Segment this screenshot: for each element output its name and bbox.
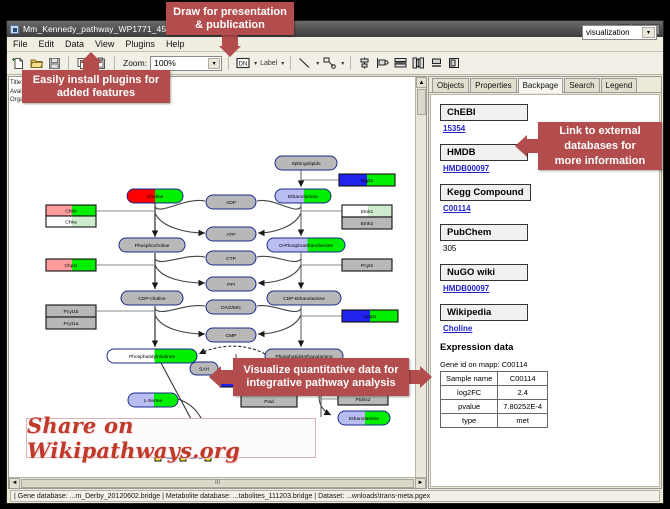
node-label: CMP [226, 333, 237, 339]
callout-visualize-stem-right [407, 370, 421, 384]
metabolite-node-sphingolipids[interactable]: Sphingolipids [275, 156, 337, 170]
callout-plugins-arrow-up-icon [80, 52, 102, 63]
db-link-wikipedia[interactable]: Choline [443, 324, 659, 333]
node-label: SAH [199, 366, 210, 372]
callout-links-line3: more information [555, 154, 645, 169]
bring-front-icon[interactable] [447, 56, 462, 71]
metabolite-node-ethanolamine-top[interactable]: Ethanolamine [275, 189, 331, 203]
callout-links-line1: Link to external [559, 124, 640, 139]
svg-text:DN: DN [238, 62, 247, 68]
callout-share-on-wikipathways: Share on Wikipathways.org [26, 418, 316, 458]
node-label: Phosphatidylcholines [129, 354, 176, 360]
node-label: ADP [226, 200, 236, 206]
callout-plugins-line2: added features [57, 87, 135, 100]
gene-node-chka[interactable]: Chka [46, 216, 96, 227]
tab-legend[interactable]: Legend [601, 78, 638, 92]
callout-links-line2: databases for [564, 139, 636, 154]
menu-plugins[interactable]: Plugins [124, 39, 156, 49]
visualization-chevron-down-icon[interactable]: ▾ [642, 27, 655, 38]
callout-draw-line1: Draw for presentation [173, 6, 287, 19]
menu-data[interactable]: Data [64, 39, 85, 49]
app-icon [10, 25, 19, 34]
callout-links-arrow-left-icon [515, 135, 527, 157]
metabolite-node-cdp-ethanolamine[interactable]: CDP-Ethanolamine [267, 291, 341, 305]
db-link-kegg-compound[interactable]: C00114 [443, 204, 659, 213]
metabolite-node-ethanolamine-bottom[interactable]: Ethanolamine [338, 411, 390, 425]
metabolite-node-phosphatidylcholines[interactable]: Phosphatidylcholines [107, 349, 197, 363]
zoom-label: Zoom: [123, 58, 147, 68]
cell-key-log2fc: log2FC [441, 386, 498, 400]
tab-backpage[interactable]: Backpage [518, 78, 564, 93]
node-label: Ethanolamine [349, 416, 379, 422]
node-label: Sgpl1 [361, 178, 374, 184]
callout-visualize-line1: Visualize quantitative data for [243, 364, 398, 377]
callout-easily-install-plugins: Easily install plugins for added feature… [22, 70, 170, 103]
tab-properties[interactable]: Properties [470, 78, 516, 92]
node-label: Ethanolamine [288, 194, 318, 200]
db-section-wikipedia: Wikipedia Choline [440, 302, 659, 333]
callout-plugins-line1: Easily install plugins for [33, 74, 160, 87]
gene-node-chpt1[interactable]: Chpt1 [46, 259, 96, 271]
gene-node-etnk1[interactable]: Etnk1 [342, 205, 392, 217]
callout-draw-arrow-down-icon [219, 46, 241, 57]
metabolite-node-ctp[interactable]: CTP [206, 251, 256, 265]
canvas-vertical-scrollbar[interactable]: ▲ [415, 77, 426, 477]
metabolite-node-choline-top[interactable]: Choline [127, 189, 183, 203]
cell-value-pvalue: 7.80252E-4 [498, 400, 548, 414]
node-label: PPi [227, 282, 235, 288]
cell-key-type: type [441, 414, 498, 428]
node-label: Pcyt1a [64, 321, 79, 327]
db-section-pubchem: PubChem 305 [440, 222, 659, 253]
gene-node-sgpl1[interactable]: Sgpl1 [339, 174, 395, 186]
metabolite-node-l-serine-left[interactable]: L-Serine [128, 393, 178, 407]
cell-value-type: met [498, 414, 548, 428]
db-value-pubchem: 305 [443, 244, 659, 253]
gene-node-pisd[interactable]: Pisd [241, 395, 297, 407]
status-bar: | Gene database: ...m_Derby_20120602.bri… [7, 489, 663, 503]
gene-node-pcyt1b[interactable]: Pcyt1b [46, 305, 96, 317]
visualization-combo[interactable]: visualization ▾ [582, 25, 657, 40]
gene-node-pcyt1a[interactable]: Pcyt1a [46, 317, 96, 329]
node-label: Chka [65, 219, 77, 225]
cell-key-pvalue: pvalue [441, 400, 498, 414]
share-text: Share on Wikipathways.org [27, 413, 315, 463]
table-row: log2FC 2.4 [441, 386, 548, 400]
metabolite-node-cdp-choline[interactable]: CDP-choline [121, 291, 183, 305]
gene-node-pcyt2[interactable]: Pcyt2 [342, 259, 392, 271]
tab-objects[interactable]: Objects [432, 78, 469, 92]
label-tool-icon[interactable]: Label [260, 60, 277, 67]
align-left-icon[interactable] [375, 56, 390, 71]
node-label: CDP-choline [138, 296, 166, 302]
metabolite-node-cmp[interactable]: CMP [206, 328, 256, 342]
node-label: DAG/MG [221, 305, 241, 311]
node-label: O-Phosphoethanolamine [279, 243, 333, 249]
cell-key-sample-name: Sample name [441, 372, 498, 386]
node-label: CTP [226, 256, 236, 262]
callout-visualize-arrow-right-icon [420, 366, 432, 388]
menu-bar: File Edit Data View Plugins Help [7, 37, 663, 52]
metabolite-node-o-phosphoethanolamine[interactable]: O-Phosphoethanolamine [267, 238, 345, 252]
cell-value-log2fc: 2.4 [498, 386, 548, 400]
canvas-horizontal-scrollbar[interactable]: ◄ III ► [9, 477, 426, 488]
gene-id-on-mapp: Gene id on mapp: C00114 [440, 360, 659, 369]
tab-search[interactable]: Search [564, 78, 599, 92]
metabolite-node-phosphocholine[interactable]: Phosphocholine [119, 238, 185, 252]
table-row: pvalue 7.80252E-4 [441, 400, 548, 414]
db-header-kegg-compound: Kegg Compound [440, 184, 531, 201]
gene-node-chkb[interactable]: Chkb [46, 205, 96, 216]
callout-visualize-line2: integrative pathway analysis [246, 377, 395, 390]
node-label: Pcyt1b [64, 309, 79, 315]
node-label: Etnk1 [361, 209, 374, 215]
node-label: Sphingolipids [291, 161, 321, 167]
cell-value-sample-name: C00114 [498, 372, 548, 386]
node-label: Phosphocholine [135, 243, 170, 249]
metabolite-node-ppi[interactable]: PPi [206, 277, 256, 291]
callout-draw-line2: & publication [195, 19, 265, 32]
table-row: Sample name C00114 [441, 372, 548, 386]
toolbar-separator [68, 56, 69, 70]
vscroll-thumb[interactable] [417, 89, 426, 115]
node-label: CDP-Ethanolamine [283, 296, 325, 302]
expression-data-table: Sample name C00114 log2FC 2.4 pvalue 7.8… [440, 371, 548, 428]
callout-link-to-external-databases: Link to external databases for more info… [538, 122, 662, 170]
save-disk-icon[interactable] [47, 56, 62, 71]
db-section-kegg: Kegg Compound C00114 [440, 182, 659, 213]
menu-view[interactable]: View [94, 39, 115, 49]
menu-edit[interactable]: Edit [38, 39, 56, 49]
toolbar-separator-2 [114, 56, 115, 70]
node-label: L-Serine [144, 398, 163, 404]
metabolite-node-atp[interactable]: ATP [206, 227, 256, 241]
hscroll-thumb[interactable]: III [21, 479, 414, 488]
datanode-tool-icon[interactable]: DN [235, 56, 250, 71]
distribute-icon[interactable] [393, 56, 408, 71]
stack-icon[interactable] [429, 56, 444, 71]
shape-tool-icon[interactable] [322, 56, 337, 71]
status-bar-text: | Gene database: ...m_Derby_20120602.bri… [10, 490, 660, 502]
equal-size-icon[interactable] [411, 56, 426, 71]
table-row: type met [441, 414, 548, 428]
scroll-right-icon[interactable]: ► [415, 478, 426, 489]
db-header-nugo-wiki: NuGO wiki [440, 264, 528, 281]
expression-data-title: Expression data [440, 342, 659, 353]
side-panel-tabs: Objects Properties Backpage Search Legen… [429, 77, 661, 93]
db-header-pubchem: PubChem [440, 224, 528, 241]
callout-draw-for-presentation: Draw for presentation & publication [166, 2, 294, 35]
node-label: Ptdss2 [356, 397, 371, 403]
db-header-chebi: ChEBI [440, 104, 528, 121]
shape-caret-icon[interactable]: ▾ [341, 60, 344, 67]
visualization-value: visualization [586, 28, 630, 37]
gene-node-cept1[interactable]: Cept1 [342, 310, 398, 322]
node-label: Etnk2 [361, 221, 374, 227]
line-tool-icon[interactable] [297, 56, 312, 71]
scroll-left-icon[interactable]: ◄ [9, 478, 20, 489]
node-label: Chpt1 [64, 263, 77, 269]
callout-visualize-arrow-left-icon [209, 366, 221, 388]
metabolite-node-dag-mg[interactable]: DAG/MG [206, 300, 256, 314]
zoom-value: 100% [154, 58, 176, 68]
scroll-up-icon[interactable]: ▲ [416, 77, 427, 88]
node-label: Pisd [264, 399, 274, 405]
chevron-down-icon[interactable]: ▾ [208, 58, 220, 69]
node-label: Choline [147, 194, 164, 200]
toolbar-separator-5 [350, 56, 351, 70]
menu-help[interactable]: Help [165, 39, 186, 49]
node-label: Cept1 [363, 314, 376, 320]
callout-visualize-quantitative-data: Visualize quantitative data for integrat… [233, 358, 409, 396]
node-label: Pcyt2 [361, 263, 374, 269]
zoom-combo[interactable]: 100% ▾ [150, 56, 222, 71]
db-section-nugo: NuGO wiki HMDB00097 [440, 262, 659, 293]
toolbar-separator-3 [228, 56, 229, 70]
label-caret-icon[interactable]: ▾ [281, 60, 284, 67]
db-link-nugo-wiki[interactable]: HMDB00097 [443, 284, 659, 293]
menu-file[interactable]: File [12, 39, 29, 49]
new-document-icon[interactable] [11, 56, 26, 71]
db-header-wikipedia: Wikipedia [440, 304, 528, 321]
metabolite-node-adp[interactable]: ADP [206, 195, 256, 209]
gene-node-etnk2[interactable]: Etnk2 [342, 217, 392, 229]
title-bar: Mm_Kennedy_pathway_WP1771_45176.gpml _ □… [7, 21, 663, 37]
node-label: Chkb [65, 208, 77, 214]
datanode-caret-icon[interactable]: ▾ [254, 60, 257, 67]
align-center-icon[interactable] [357, 56, 372, 71]
node-label: ATP [226, 232, 235, 238]
open-folder-icon[interactable] [29, 56, 44, 71]
toolbar-separator-4 [290, 56, 291, 70]
line-caret-icon[interactable]: ▾ [316, 60, 319, 67]
